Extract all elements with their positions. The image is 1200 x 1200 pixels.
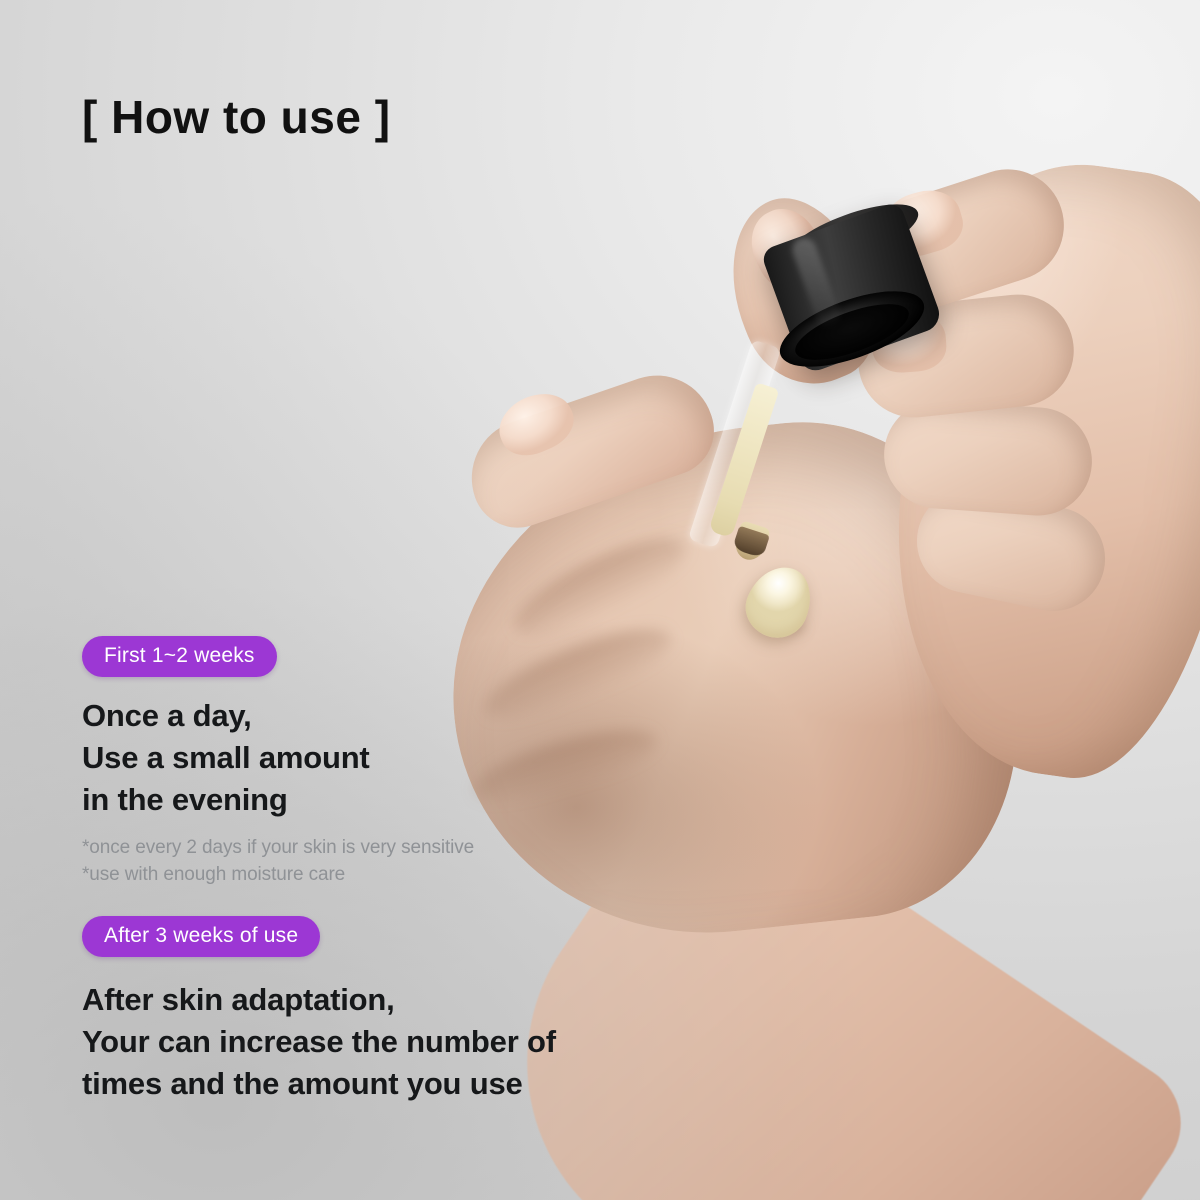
step-1-line: Once a day, <box>82 695 474 737</box>
step-2: After 3 weeks of use After skin adaptati… <box>82 916 556 1105</box>
step-1-notes: *once every 2 days if your skin is very … <box>82 835 474 889</box>
step-1-note: *once every 2 days if your skin is very … <box>82 835 474 862</box>
step-2-badge: After 3 weeks of use <box>82 916 320 957</box>
step-2-instructions: After skin adaptation, Your can increase… <box>82 979 556 1105</box>
step-1-line: Use a small amount <box>82 737 474 779</box>
step-1-badge: First 1~2 weeks <box>82 636 277 677</box>
step-1: First 1~2 weeks Once a day, Use a small … <box>82 636 474 889</box>
step-1-note: *use with enough moisture care <box>82 862 474 889</box>
step-1-line: in the evening <box>82 779 474 821</box>
page-title: [ How to use ] <box>82 90 391 144</box>
step-2-line: times and the amount you use <box>82 1063 556 1105</box>
step-2-line: Your can increase the number of <box>82 1021 556 1063</box>
how-to-use-panel: [ How to use ] First 1~2 weeks Once a da… <box>0 0 1200 1200</box>
step-2-line: After skin adaptation, <box>82 979 556 1021</box>
step-1-instructions: Once a day, Use a small amount in the ev… <box>82 695 474 821</box>
